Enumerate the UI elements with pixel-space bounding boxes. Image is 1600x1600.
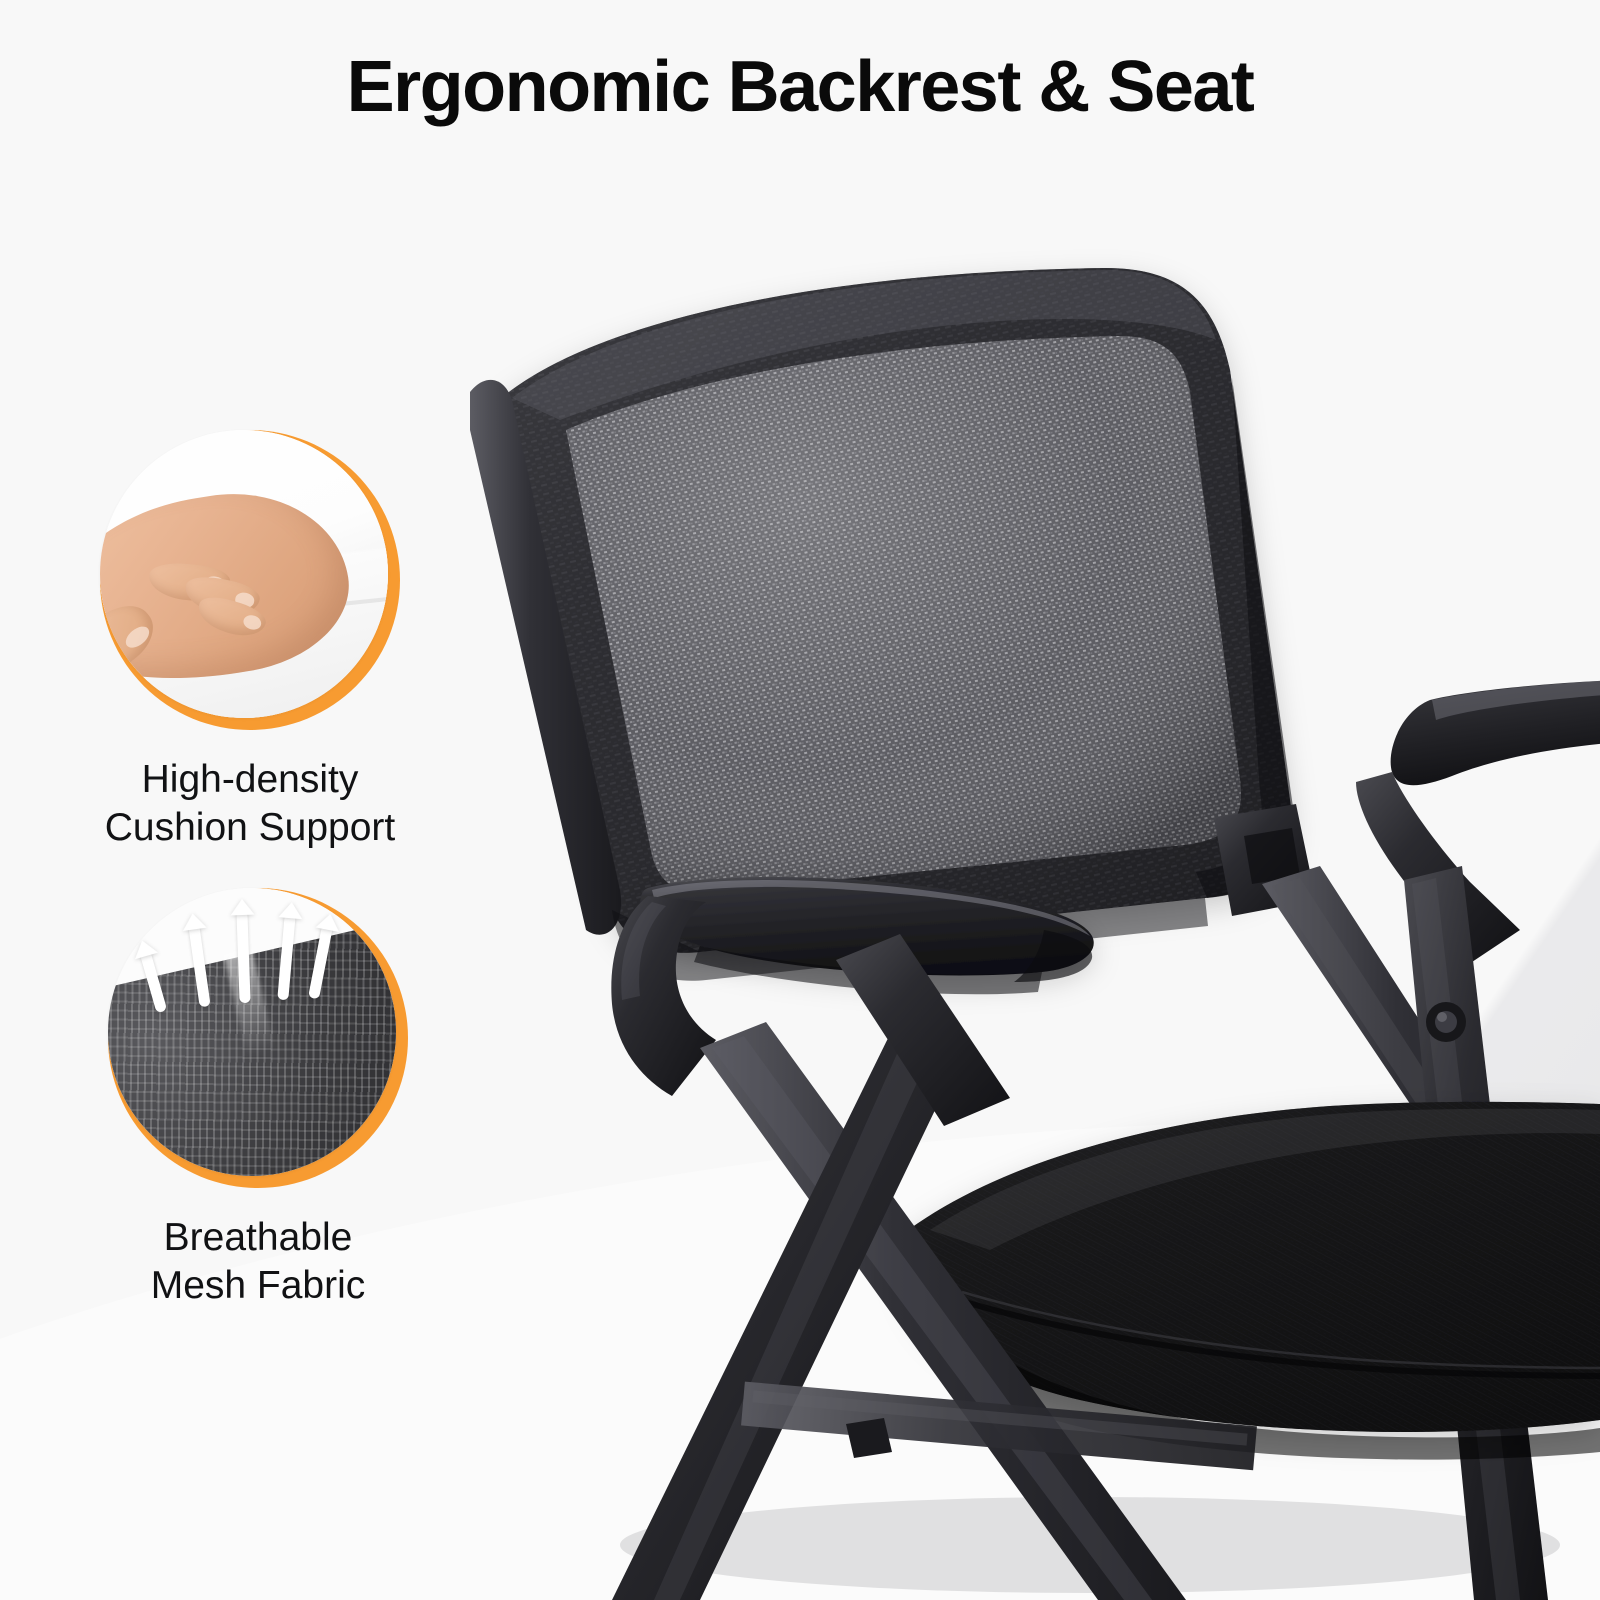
mesh-inner-panel bbox=[566, 336, 1241, 893]
feature-high-density-cushion: High-density Cushion Support bbox=[50, 430, 450, 851]
feature-breathable-mesh: Breathable Mesh Fabric bbox=[58, 888, 458, 1309]
feature-badge-0 bbox=[100, 430, 400, 730]
left-armrest bbox=[611, 877, 1093, 1096]
feature-label-0: High-density Cushion Support bbox=[50, 756, 450, 851]
page-title: Ergonomic Backrest & Seat bbox=[0, 48, 1600, 127]
mesh-backrest bbox=[470, 268, 1294, 981]
right-armrest bbox=[1356, 680, 1600, 962]
feature-label-1: Breathable Mesh Fabric bbox=[58, 1214, 458, 1309]
feature-badge-1 bbox=[108, 888, 408, 1188]
foam-cushion-press-icon bbox=[100, 430, 388, 718]
breathable-mesh-airflow-icon bbox=[108, 888, 396, 1176]
product-feature-card: Ergonomic Backrest & Seat High-density C… bbox=[0, 0, 1600, 1600]
